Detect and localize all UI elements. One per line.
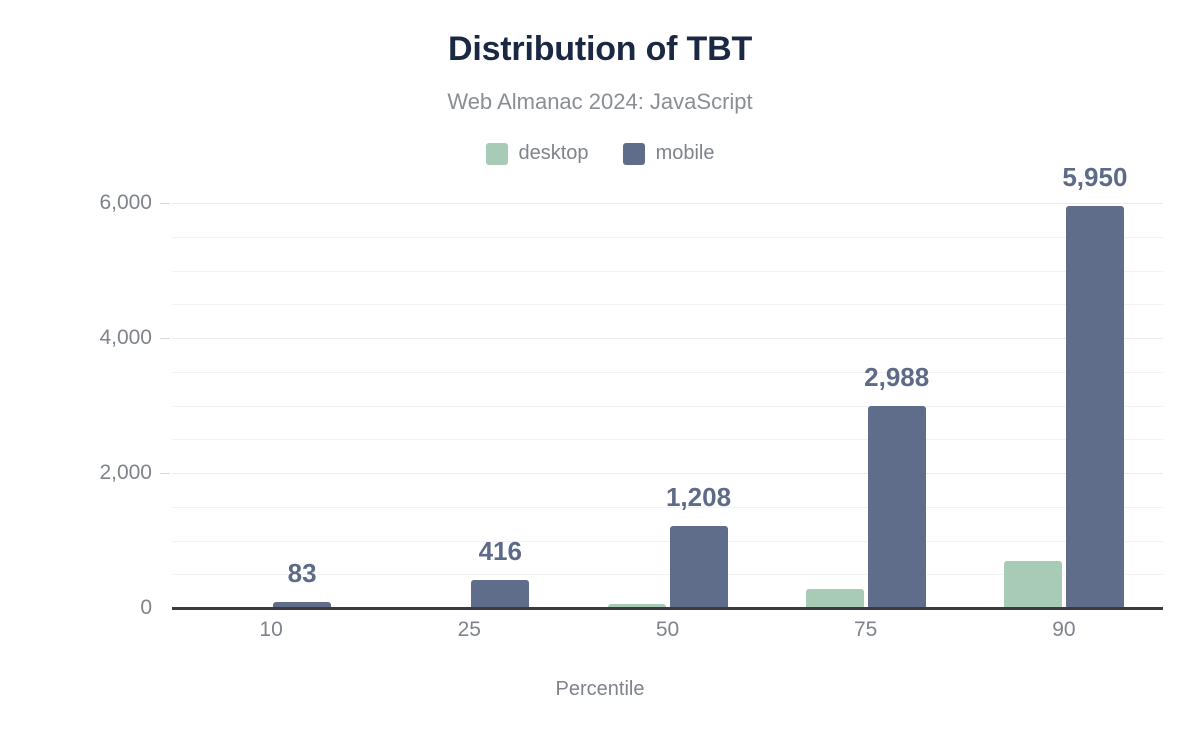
legend-label-desktop: desktop bbox=[519, 142, 589, 165]
chart-legend: desktop mobile bbox=[0, 142, 1200, 165]
bar-desktop-75[interactable] bbox=[806, 589, 864, 608]
bar-value-label-mobile-10: 83 bbox=[288, 558, 317, 589]
y-axis-tick-label: 6,000 bbox=[12, 191, 152, 215]
legend-item-desktop[interactable]: desktop bbox=[486, 142, 589, 165]
gridline-minor bbox=[172, 237, 1163, 238]
y-axis-tick-mark bbox=[160, 473, 170, 474]
x-axis-tick-label: 10 bbox=[211, 618, 331, 642]
x-axis-tick-label: 75 bbox=[806, 618, 926, 642]
chart-title: Distribution of TBT bbox=[0, 30, 1200, 69]
legend-label-mobile: mobile bbox=[656, 142, 715, 165]
x-axis-tick-label: 90 bbox=[1004, 618, 1124, 642]
gridline-minor bbox=[172, 304, 1163, 305]
legend-item-mobile[interactable]: mobile bbox=[623, 142, 715, 165]
x-axis-baseline bbox=[172, 607, 1163, 610]
gridline-minor bbox=[172, 406, 1163, 407]
chart-container: Distribution of TBT Web Almanac 2024: Ja… bbox=[0, 0, 1200, 742]
bar-value-label-mobile-90: 5,950 bbox=[1062, 162, 1127, 193]
y-axis-tick-mark bbox=[160, 338, 170, 339]
bar-mobile-25[interactable] bbox=[471, 580, 529, 608]
gridline-major bbox=[172, 338, 1163, 339]
gridline-major bbox=[172, 203, 1163, 204]
gridline-minor bbox=[172, 439, 1163, 440]
bar-desktop-90[interactable] bbox=[1004, 561, 1062, 608]
legend-swatch-desktop bbox=[486, 143, 508, 165]
gridline-minor bbox=[172, 372, 1163, 373]
x-axis-tick-label: 25 bbox=[409, 618, 529, 642]
y-axis-tick-label: 2,000 bbox=[12, 461, 152, 485]
y-axis-tick-label: 4,000 bbox=[12, 326, 152, 350]
bar-value-label-mobile-75: 2,988 bbox=[864, 362, 929, 393]
gridline-minor bbox=[172, 541, 1163, 542]
bar-mobile-90[interactable] bbox=[1066, 206, 1124, 608]
chart-subtitle: Web Almanac 2024: JavaScript bbox=[0, 89, 1200, 115]
y-axis-tick-mark bbox=[160, 203, 170, 204]
bar-value-label-mobile-50: 1,208 bbox=[666, 482, 731, 513]
gridline-minor bbox=[172, 271, 1163, 272]
x-axis-tick-label: 50 bbox=[608, 618, 728, 642]
plot-area bbox=[172, 203, 1163, 608]
y-axis-tick-label: 0 bbox=[12, 596, 152, 620]
legend-swatch-mobile bbox=[623, 143, 645, 165]
bar-mobile-75[interactable] bbox=[868, 406, 926, 608]
bar-value-label-mobile-25: 416 bbox=[479, 536, 522, 567]
x-axis-title: Percentile bbox=[0, 678, 1200, 701]
bar-mobile-50[interactable] bbox=[670, 526, 728, 608]
gridline-major bbox=[172, 473, 1163, 474]
